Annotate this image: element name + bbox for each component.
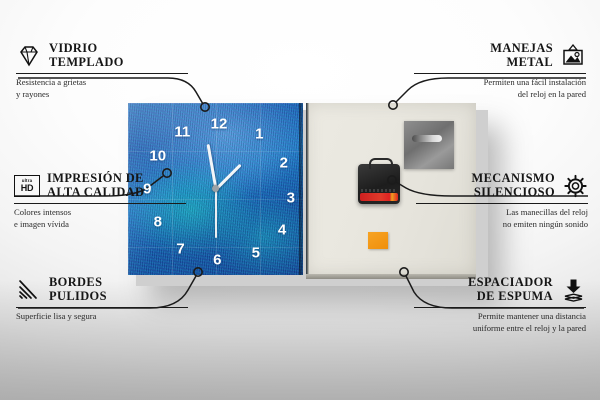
clock-number-5: 5: [252, 244, 260, 261]
ultra-hd-large-text: HD: [21, 184, 34, 193]
feature-desc-line1: Permite mantener una distancia: [414, 311, 586, 323]
feature-bordes-pulidos[interactable]: BORDES PULIDOS Superficie lisa y segura: [16, 276, 188, 323]
clock-number-4: 4: [278, 222, 286, 239]
hanging-picture-icon: [560, 44, 586, 68]
clock-number-3: 3: [287, 189, 295, 206]
feature-desc-line2: y rayones: [16, 89, 188, 101]
feature-title-line1: MANEJAS: [490, 42, 553, 56]
feature-title-line1: MECANISMO: [472, 172, 555, 186]
infographic-canvas: 12 1 2 3 4 5 6 7 8 9 10 11: [0, 0, 600, 400]
feature-head: VIDRIO TEMPLADO: [16, 42, 188, 73]
feature-title-line2: PULIDOS: [49, 290, 107, 304]
feature-title-line1: IMPRESIÓN DE: [47, 172, 144, 186]
feature-head: ESPACIADOR DE ESPUMA: [414, 276, 586, 307]
feature-desc-line1: Permiten una fácil instalación: [414, 77, 586, 89]
feature-head: MANEJAS METAL: [414, 42, 586, 73]
feature-title-line1: BORDES: [49, 276, 107, 290]
connector-dot-bordes: [194, 268, 202, 276]
stacked-arrow-down-icon: [560, 278, 586, 302]
clock-number-7: 7: [176, 241, 184, 258]
feature-head: ultra HD IMPRESIÓN DE ALTA CALIDAD: [14, 172, 186, 203]
feature-title: BORDES PULIDOS: [49, 276, 107, 304]
clock-number-2: 2: [280, 155, 288, 172]
feature-espaciador-espuma[interactable]: ESPACIADOR DE ESPUMA Permite mantener un…: [414, 276, 586, 334]
gear-icon: [562, 174, 588, 198]
feature-desc: Las manecillas del reloj no emiten ningú…: [416, 204, 588, 230]
feature-manejas-metal[interactable]: MANEJAS METAL Permiten una fácil instala…: [414, 42, 586, 100]
feature-desc: Superficie lisa y segura: [16, 308, 188, 323]
feature-title-line2: DE ESPUMA: [468, 290, 553, 304]
clock-number-9: 9: [143, 181, 151, 198]
connector-dot-vidrio: [201, 103, 209, 111]
feature-title-line2: METAL: [490, 56, 553, 70]
feature-desc-line2: del reloj en la pared: [414, 89, 586, 101]
clock-number-10: 10: [149, 148, 166, 165]
clock-number-8: 8: [154, 213, 162, 230]
connector-dot-manejas: [389, 101, 397, 109]
clock-side-edge: [299, 103, 303, 275]
feature-mecanismo-silencioso[interactable]: MECANISMO SILENCIOSO Las manecillas del …: [416, 172, 588, 230]
feature-desc-line1: Resistencia a grietas: [16, 77, 188, 89]
feature-title: IMPRESIÓN DE ALTA CALIDAD: [47, 172, 144, 200]
feature-desc-line1: Superficie lisa y segura: [16, 311, 188, 323]
feature-title: ESPACIADOR DE ESPUMA: [468, 276, 553, 304]
feature-desc: Permiten una fácil instalación del reloj…: [414, 74, 586, 100]
feature-desc-line1: Las manecillas del reloj: [416, 207, 588, 219]
feature-head: MECANISMO SILENCIOSO: [416, 172, 588, 203]
connector-dot-espaciador: [400, 268, 408, 276]
clock-number-6: 6: [213, 251, 221, 268]
feature-title-line1: ESPACIADOR: [468, 276, 553, 290]
feature-desc-line2: no emiten ningún sonido: [416, 219, 588, 231]
feature-desc: Permite mantener una distancia uniforme …: [414, 308, 586, 334]
diamond-icon: [16, 44, 42, 68]
ultra-hd-icon: ultra HD: [14, 174, 40, 198]
feature-title-line2: ALTA CALIDAD: [47, 186, 144, 200]
diagonal-lines-icon: [16, 278, 42, 302]
clock-number-11: 11: [174, 124, 190, 141]
feature-title-line2: TEMPLADO: [49, 56, 124, 70]
clock-number-12: 12: [211, 115, 228, 132]
feature-head: BORDES PULIDOS: [16, 276, 188, 307]
feature-desc-line2: uniforme entre el reloj y la pared: [414, 323, 586, 335]
feature-vidrio-templado[interactable]: VIDRIO TEMPLADO Resistencia a grietas y …: [16, 42, 188, 100]
feature-title: MANEJAS METAL: [490, 42, 553, 70]
clock-second-hand: [215, 189, 217, 238]
feature-title: VIDRIO TEMPLADO: [49, 42, 124, 70]
connector-dot-mecanismo: [388, 176, 396, 184]
clock-center-pin: [212, 185, 219, 192]
clock-number-1: 1: [255, 125, 263, 142]
feature-title: MECANISMO SILENCIOSO: [472, 172, 555, 200]
feature-title-line2: SILENCIOSO: [472, 186, 555, 200]
feature-desc: Resistencia a grietas y rayones: [16, 74, 188, 100]
feature-title-line1: VIDRIO: [49, 42, 124, 56]
